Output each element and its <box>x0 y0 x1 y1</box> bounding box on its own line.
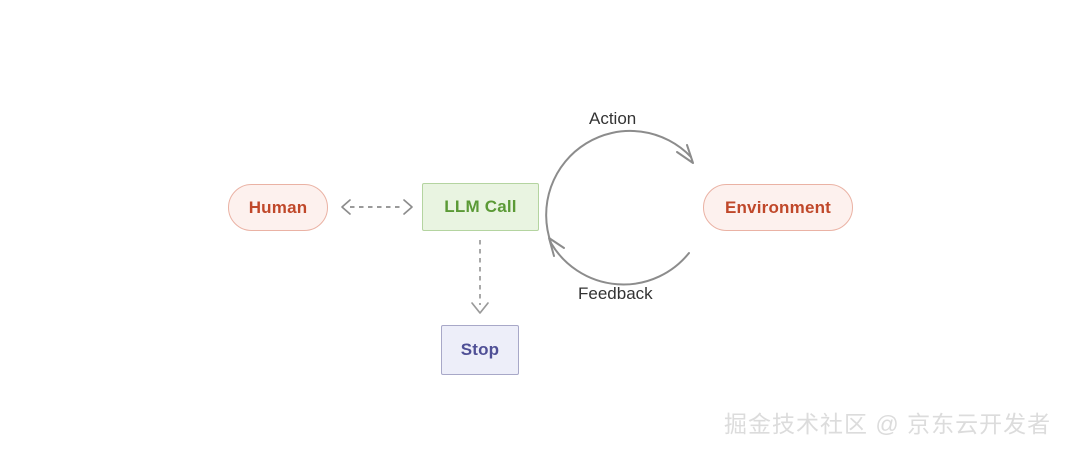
connector-llm-stop <box>472 240 488 313</box>
diagram-connectors: LLM Call --> Environment (Action) --> LL… <box>0 0 1080 450</box>
node-llm-call[interactable]: LLM Call <box>422 183 539 231</box>
connector-human-llm <box>342 200 412 214</box>
connector-feedback <box>549 238 689 284</box>
node-human-label: Human <box>249 198 308 218</box>
diagram-canvas: LLM Call --> Environment (Action) --> LL… <box>0 0 1080 450</box>
node-human[interactable]: Human <box>228 184 328 231</box>
node-environment[interactable]: Environment <box>703 184 853 231</box>
node-llm-call-label: LLM Call <box>444 197 516 217</box>
edge-label-feedback: Feedback <box>578 284 653 304</box>
watermark-text: 掘金技术社区 @ 京东云开发者 <box>724 405 1051 439</box>
node-stop[interactable]: Stop <box>441 325 519 375</box>
connector-action <box>546 131 693 243</box>
edge-label-action: Action <box>589 109 636 129</box>
node-environment-label: Environment <box>725 198 831 218</box>
node-stop-label: Stop <box>461 340 500 360</box>
